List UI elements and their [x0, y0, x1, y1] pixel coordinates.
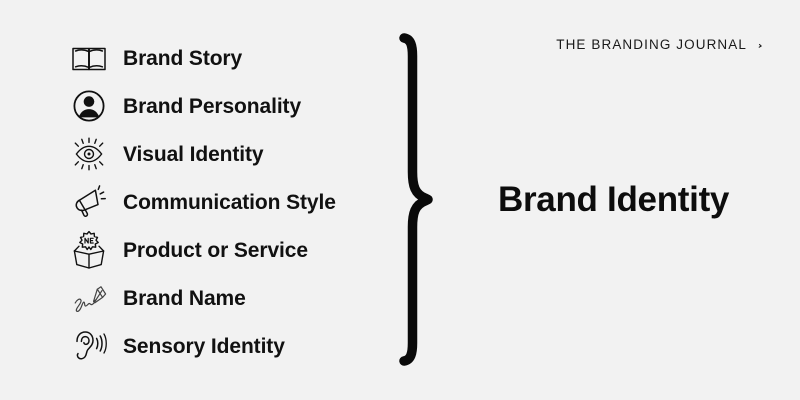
open-book-icon	[66, 36, 112, 80]
list-item-label: Communication Style	[123, 192, 336, 213]
list-item-label: Sensory Identity	[123, 336, 285, 357]
arrow-swirl-icon	[749, 39, 762, 53]
person-circle-icon	[66, 84, 112, 128]
megaphone-icon	[66, 180, 112, 224]
list-item[interactable]: Brand Name	[66, 274, 376, 322]
list-item[interactable]: Sensory Identity	[66, 322, 376, 370]
signature-pen-icon	[66, 276, 112, 320]
page-title: Brand Identity	[498, 0, 729, 400]
list-item[interactable]: Brand Story	[66, 34, 376, 82]
list-item-label: Visual Identity	[123, 144, 264, 165]
list-item[interactable]: Communication Style	[66, 178, 376, 226]
list-item[interactable]: Product or Service	[66, 226, 376, 274]
list-item[interactable]: Visual Identity	[66, 130, 376, 178]
open-box-new-icon	[66, 228, 112, 272]
eye-rays-icon	[66, 132, 112, 176]
brand-component-list: Brand Story Brand Personality	[66, 34, 376, 370]
list-item-label: Product or Service	[123, 240, 308, 261]
list-item-label: Brand Personality	[123, 96, 301, 117]
brand-identity-infographic: THE BRANDING JOURNAL	[0, 0, 800, 400]
list-item[interactable]: Brand Personality	[66, 82, 376, 130]
ear-soundwaves-icon	[66, 324, 112, 368]
list-item-label: Brand Name	[123, 288, 246, 309]
right-curly-brace	[392, 30, 458, 370]
list-item-label: Brand Story	[123, 48, 242, 69]
